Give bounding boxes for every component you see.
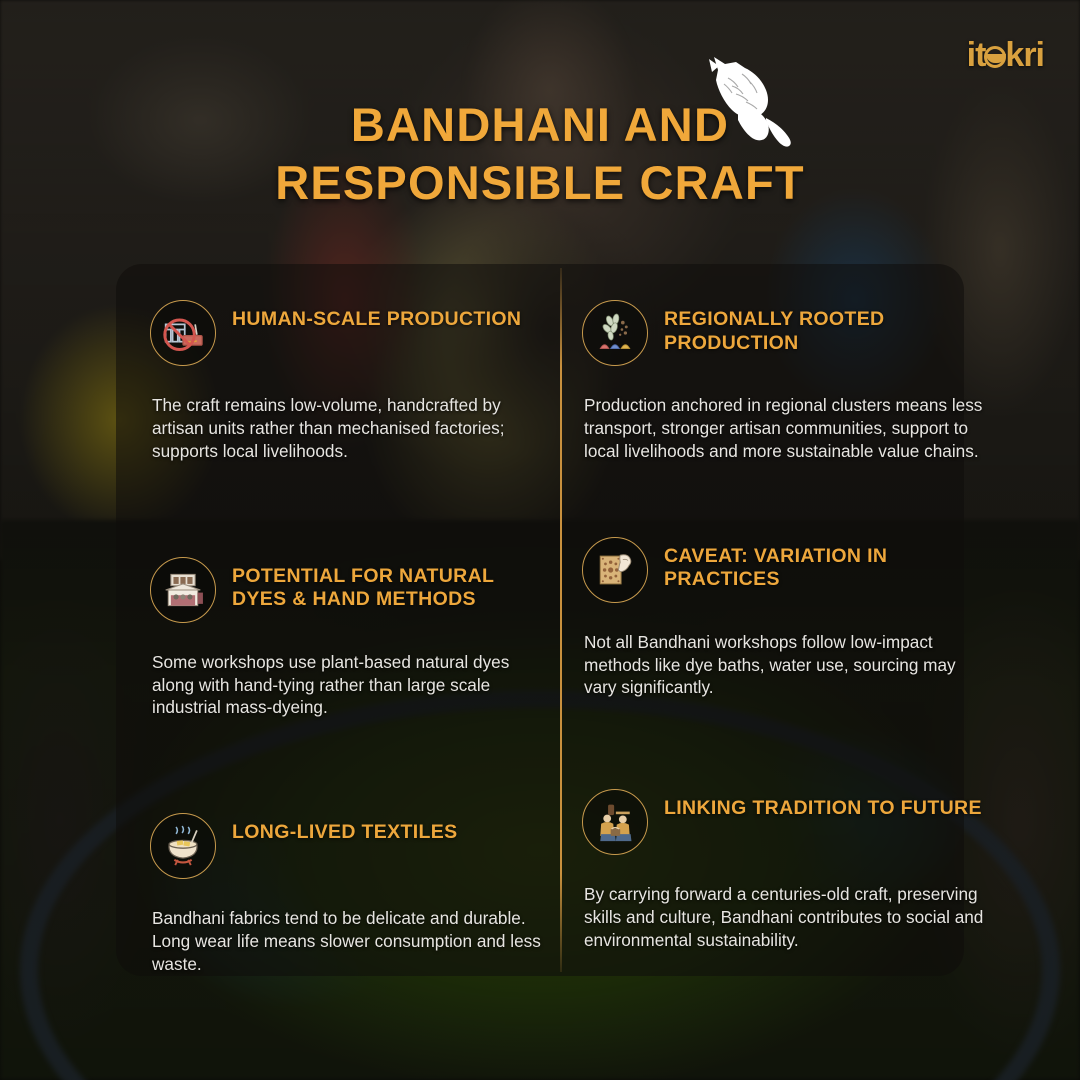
left-column: HUMAN-SCALE PRODUCTION The craft remains…	[150, 300, 550, 976]
feature-block-regionally-rooted: REGIONALLY ROOTED PRODUCTION Production …	[582, 300, 992, 463]
logo-text-part1: it	[967, 36, 986, 74]
itokri-logo: itkri	[967, 38, 1044, 72]
feature-block-natural-dyes: POTENTIAL FOR NATURAL DYES & HAND METHOD…	[150, 557, 550, 720]
feature-body: The craft remains low-volume, handcrafte…	[152, 394, 550, 463]
steaming-dye-pot-icon	[150, 813, 216, 879]
feature-body: By carrying forward a centuries-old craf…	[584, 883, 992, 952]
feature-block-human-scale: HUMAN-SCALE PRODUCTION The craft remains…	[150, 300, 550, 463]
leaves-and-pigment-mounds-icon	[582, 300, 648, 366]
feature-block-long-lived-textiles: LONG-LIVED TEXTILES Bandhani fabrics ten…	[150, 813, 550, 976]
title-line-1: BANDHANI AND	[0, 96, 1080, 154]
logo-text-part2: kri	[1005, 36, 1044, 74]
feature-body: Production anchored in regional clusters…	[584, 394, 992, 463]
feature-body: Some workshops use plant-based natural d…	[152, 651, 550, 720]
right-column: REGIONALLY ROOTED PRODUCTION Production …	[582, 300, 992, 952]
hand-holding-patterned-fabric-icon	[582, 537, 648, 603]
craft-workshop-building-icon	[150, 557, 216, 623]
feature-body: Bandhani fabrics tend to be delicate and…	[152, 907, 550, 976]
feature-title: POTENTIAL FOR NATURAL DYES & HAND METHOD…	[232, 557, 550, 613]
feature-title: CAVEAT: VARIATION IN PRACTICES	[664, 537, 992, 593]
feature-title: LONG-LIVED TEXTILES	[232, 813, 458, 845]
feature-body: Not all Bandhani workshops follow low-im…	[584, 631, 992, 700]
column-divider	[560, 268, 562, 972]
feature-block-caveat-variation: CAVEAT: VARIATION IN PRACTICES Not all B…	[582, 537, 992, 700]
feature-block-linking-tradition: LINKING TRADITION TO FUTURE By carrying …	[582, 789, 992, 952]
no-factory-icon	[150, 300, 216, 366]
feature-title: HUMAN-SCALE PRODUCTION	[232, 300, 521, 332]
logo-basket-icon	[984, 46, 1006, 68]
feature-title: REGIONALLY ROOTED PRODUCTION	[664, 300, 992, 356]
title-line-2: RESPONSIBLE CRAFT	[0, 154, 1080, 212]
two-artisans-working-icon	[582, 789, 648, 855]
feature-title: LINKING TRADITION TO FUTURE	[664, 789, 982, 821]
page-title: BANDHANI AND RESPONSIBLE CRAFT	[0, 96, 1080, 213]
